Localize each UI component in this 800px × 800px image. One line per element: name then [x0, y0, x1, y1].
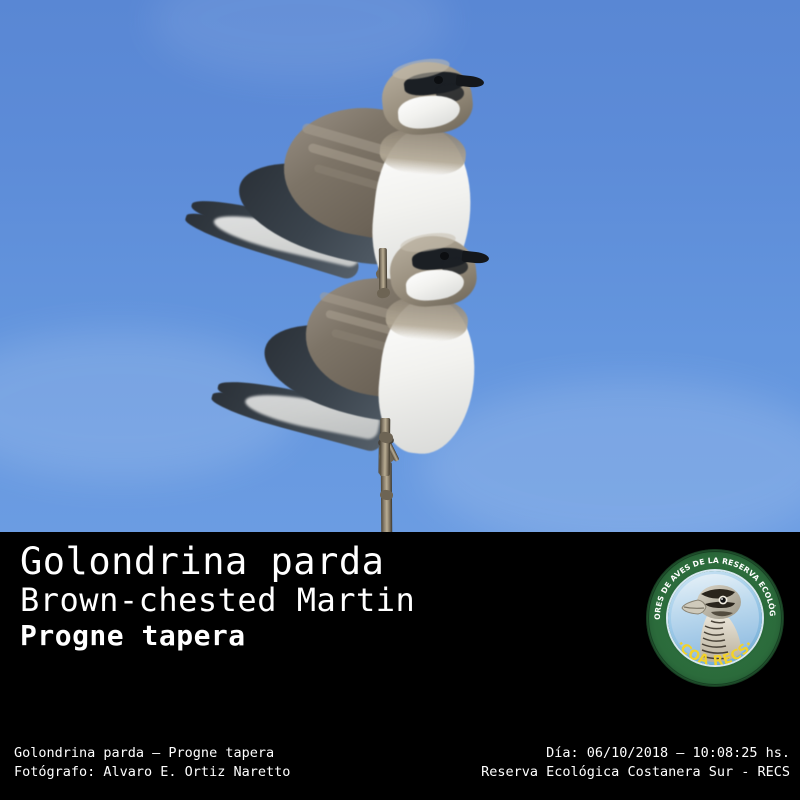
- title-scientific-name: Progne tapera: [20, 619, 415, 653]
- logo-center-disc: [671, 574, 759, 662]
- title-common-spanish: Golondrina parda: [20, 542, 415, 582]
- caption-left-line-2: Fotógrafo: Alvaro E. Ortiz Naretto: [14, 763, 290, 782]
- photo-card: Golondrina parda Brown-chested Martin Pr…: [0, 0, 800, 800]
- chaja-bird-head-icon: [671, 574, 759, 662]
- caption-left-line-1: Golondrina parda — Progne tapera: [14, 744, 290, 763]
- sky-haze: [420, 380, 800, 532]
- title-block: Golondrina parda Brown-chested Martin Pr…: [20, 542, 415, 653]
- caption-right-line-2: Reserva Ecológica Costanera Sur - RECS: [481, 763, 790, 782]
- caption-right: Día: 06/10/2018 — 10:08:25 hs. Reserva E…: [481, 744, 790, 782]
- caption-right-line-1: Día: 06/10/2018 — 10:08:25 hs.: [481, 744, 790, 763]
- caption-left: Golondrina parda — Progne tapera Fotógra…: [14, 744, 290, 782]
- title-common-english: Brown-chested Martin: [20, 582, 415, 619]
- coa-recs-logo: CLUB DE OBSERVADORES DE AVES DE LA RESER…: [646, 549, 784, 687]
- bird-photograph: [0, 0, 800, 532]
